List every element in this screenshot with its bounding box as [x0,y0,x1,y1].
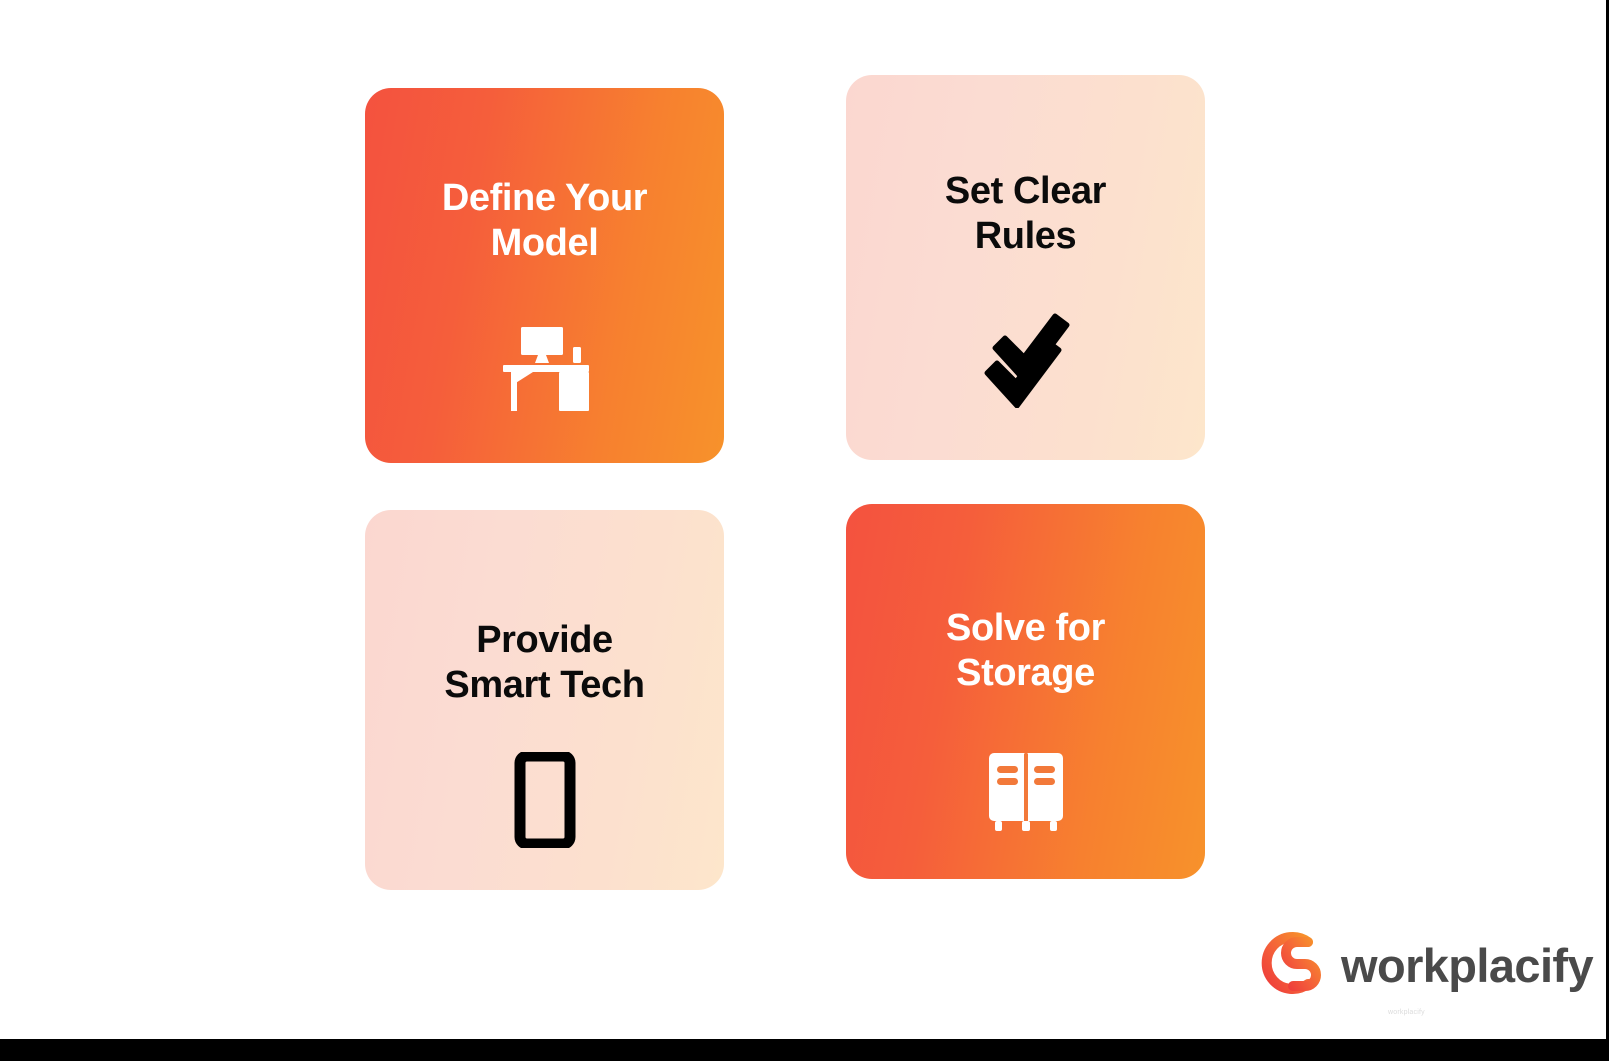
card-title: Define Your Model [420,176,669,266]
brand-logo[interactable]: workplacify [1253,926,1593,1005]
card-set-clear-rules[interactable]: Set Clear Rules [846,75,1205,460]
card-title: Set Clear Rules [923,169,1128,259]
card-provide-smart-tech[interactable]: Provide Smart Tech [365,510,724,890]
card-define-your-model[interactable]: Define Your Model [365,88,724,463]
brand-footnote-watermark: workplacify [1388,1009,1425,1016]
locker-icon [983,749,1069,835]
card-title: Provide Smart Tech [422,618,666,708]
smartphone-icon [514,752,576,848]
page-canvas: Define Your Model [0,0,1609,1061]
desk-icon [497,323,593,415]
card-solve-for-storage[interactable]: Solve for Storage [846,504,1205,879]
brand-wordmark: workplacify [1341,942,1593,989]
card-title: Solve for Storage [924,606,1127,696]
card-grid: Define Your Model [365,72,1205,890]
workplacify-logo-icon [1253,926,1327,1005]
double-check-icon [974,310,1078,408]
